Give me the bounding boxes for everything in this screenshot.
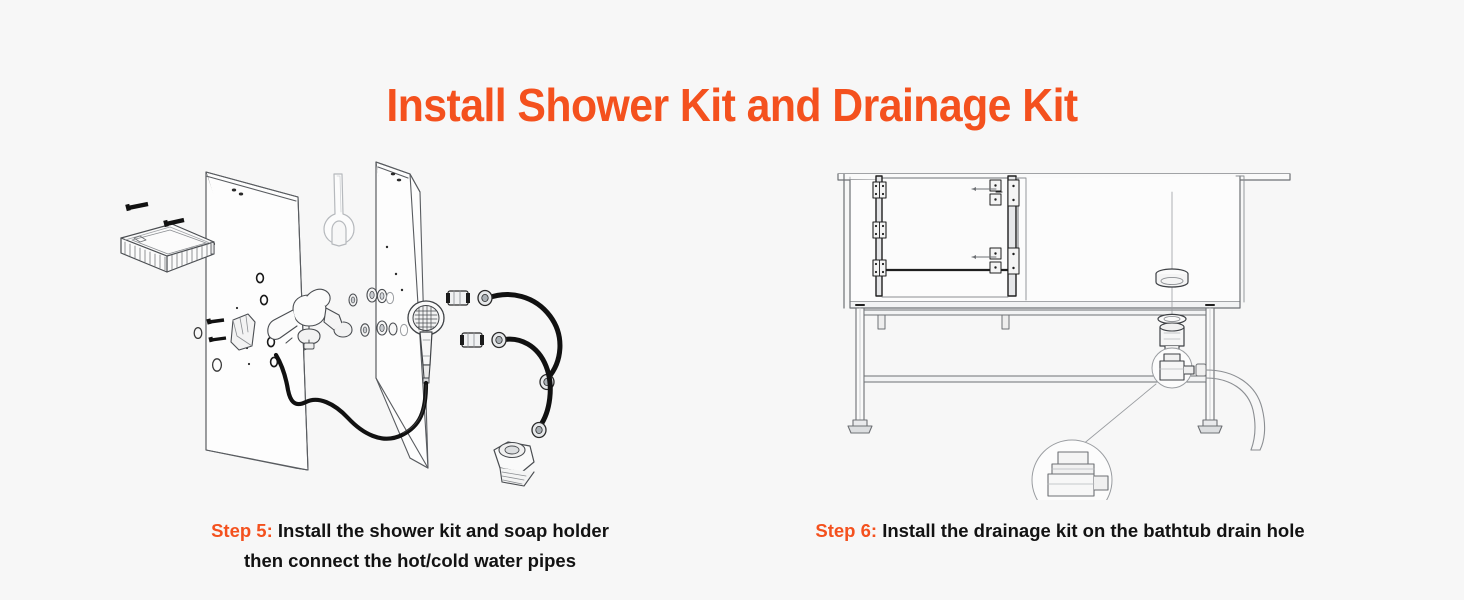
step-5-caption: Step 5: Install the shower kit and soap …	[120, 516, 700, 576]
step-5-text-line-1: Install the shower kit and soap holder	[278, 520, 609, 541]
adjustable-feet	[848, 420, 1222, 433]
wire-soap-basket	[121, 224, 214, 272]
threaded-hex-adapter	[494, 442, 534, 486]
step-6-text-line-1: Install the drainage kit on the bathtub …	[882, 520, 1304, 541]
drain-hose	[1206, 370, 1265, 450]
step-5-text-line-2: then connect the hot/cold water pipes	[120, 546, 700, 576]
page-root: Install Shower Kit and Drainage Kit	[0, 0, 1464, 600]
open-end-wrench	[324, 174, 354, 246]
page-title: Install Shower Kit and Drainage Kit	[51, 78, 1413, 132]
step-5-number: Step 5:	[211, 520, 273, 541]
drainage-kit-assembly-diagram	[820, 150, 1320, 500]
shower-kit-assembly-diagram	[110, 150, 710, 500]
detail-magnifier-circle	[1032, 384, 1156, 500]
step-6-caption: Step 6: Install the drainage kit on the …	[760, 516, 1360, 546]
panel-hinges-left	[873, 182, 886, 276]
basket-mounting-screws	[126, 204, 184, 224]
step-6-number: Step 6:	[815, 520, 877, 541]
